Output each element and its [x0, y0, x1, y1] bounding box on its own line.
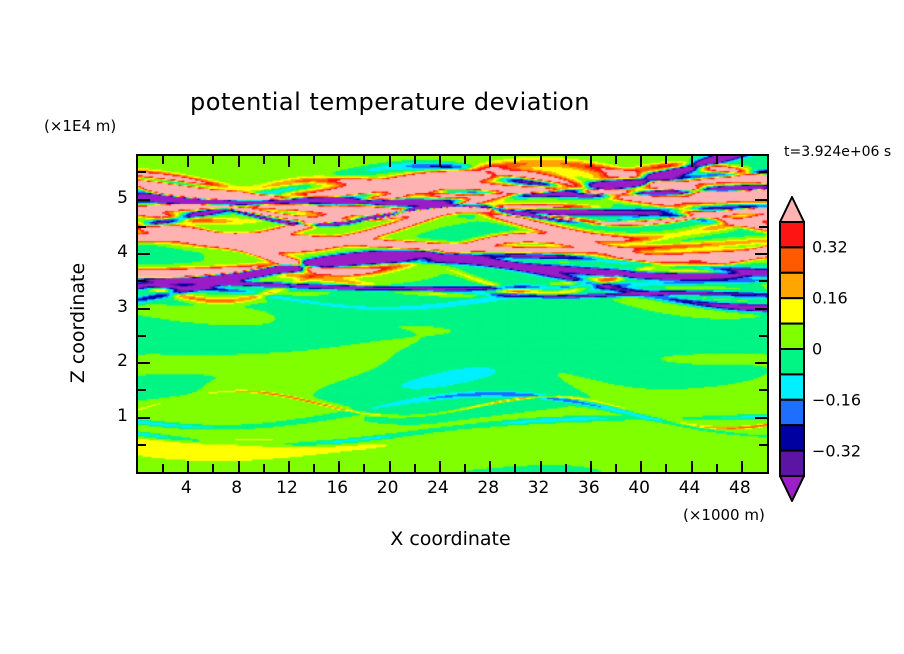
- x-tick-mark: [716, 464, 718, 472]
- x-axis-title: X coordinate: [136, 528, 765, 550]
- y-tick-mark: [138, 226, 146, 228]
- colorbar-tick-label: 0.32: [812, 238, 848, 257]
- z-axis-unit-label: (×1E4 m): [44, 117, 116, 135]
- x-tick-label: 24: [427, 478, 449, 498]
- y-tick-mark: [755, 199, 767, 201]
- x-tick-mark: [640, 461, 642, 472]
- x-tick-mark: [565, 464, 567, 472]
- x-tick-mark: [741, 461, 743, 472]
- x-tick-label: 28: [477, 478, 499, 498]
- y-tick-mark: [759, 335, 767, 337]
- x-tick-mark: [414, 156, 416, 164]
- y-tick-label: 1: [110, 406, 128, 426]
- x-tick-mark: [338, 156, 340, 167]
- y-tick-mark: [759, 226, 767, 228]
- x-tick-mark: [313, 156, 315, 164]
- x-tick-mark: [590, 156, 592, 167]
- y-tick-mark: [138, 335, 146, 337]
- y-tick-mark: [759, 389, 767, 391]
- x-tick-mark: [640, 156, 642, 167]
- x-tick-mark: [565, 156, 567, 164]
- x-tick-mark: [665, 156, 667, 164]
- x-tick-mark: [439, 461, 441, 472]
- x-tick-mark: [514, 464, 516, 472]
- page-title: potential temperature deviation: [0, 88, 780, 116]
- x-tick-mark: [716, 156, 718, 164]
- y-tick-mark: [759, 444, 767, 446]
- x-tick-label: 40: [628, 478, 650, 498]
- x-tick-mark: [741, 156, 743, 167]
- x-tick-mark: [464, 156, 466, 164]
- contour-field: [138, 156, 767, 472]
- x-tick-mark: [212, 464, 214, 472]
- x-tick-mark: [389, 156, 391, 167]
- x-tick-label: 48: [729, 478, 751, 498]
- x-tick-label: 4: [181, 478, 192, 498]
- x-tick-mark: [363, 156, 365, 164]
- x-tick-mark: [691, 461, 693, 472]
- x-tick-mark: [615, 464, 617, 472]
- x-tick-mark: [439, 156, 441, 167]
- y-tick-mark: [138, 280, 146, 282]
- colorbar-tick-label: 0: [812, 340, 822, 359]
- y-tick-mark: [138, 253, 150, 255]
- y-tick-mark: [755, 253, 767, 255]
- y-tick-label: 3: [110, 297, 128, 317]
- y-tick-mark: [755, 362, 767, 364]
- x-tick-mark: [590, 461, 592, 472]
- x-tick-mark: [363, 464, 365, 472]
- colorbar[interactable]: [779, 196, 805, 502]
- x-tick-label: 12: [276, 478, 298, 498]
- contour-plot-area[interactable]: [136, 154, 769, 474]
- colorbar-tick-label: −0.32: [812, 441, 861, 460]
- x-tick-mark: [238, 156, 240, 167]
- x-tick-mark: [187, 156, 189, 167]
- x-tick-mark: [263, 464, 265, 472]
- x-tick-label: 32: [528, 478, 550, 498]
- x-tick-mark: [665, 464, 667, 472]
- y-tick-mark: [138, 171, 146, 173]
- x-tick-label: 8: [231, 478, 242, 498]
- y-axis-title: Z coordinate: [67, 223, 89, 423]
- x-tick-mark: [540, 156, 542, 167]
- x-tick-mark: [489, 461, 491, 472]
- colorbar-tick-label: −0.16: [812, 390, 861, 409]
- x-tick-mark: [212, 156, 214, 164]
- y-tick-mark: [138, 308, 150, 310]
- time-annotation: t=3.924e+06 s: [784, 144, 891, 160]
- colorbar-tick-label: 0.16: [812, 289, 848, 308]
- x-tick-label: 16: [326, 478, 348, 498]
- x-tick-mark: [263, 156, 265, 164]
- x-tick-mark: [338, 461, 340, 472]
- x-tick-mark: [288, 156, 290, 167]
- x-tick-mark: [464, 464, 466, 472]
- colorbar-swatches: [779, 196, 805, 502]
- x-tick-mark: [615, 156, 617, 164]
- x-tick-label: 44: [679, 478, 701, 498]
- x-tick-label: 20: [377, 478, 399, 498]
- x-tick-mark: [389, 461, 391, 472]
- y-tick-mark: [755, 417, 767, 419]
- x-tick-mark: [414, 464, 416, 472]
- y-tick-mark: [138, 417, 150, 419]
- y-tick-mark: [138, 444, 146, 446]
- x-tick-mark: [162, 464, 164, 472]
- y-tick-mark: [755, 308, 767, 310]
- figure-canvas: potential temperature deviation (×1E4 m)…: [0, 0, 904, 654]
- x-tick-mark: [162, 156, 164, 164]
- x-tick-mark: [691, 156, 693, 167]
- x-axis-unit-label: (×1000 m): [683, 506, 765, 524]
- y-tick-mark: [759, 280, 767, 282]
- y-tick-label: 5: [110, 188, 128, 208]
- y-tick-mark: [138, 199, 150, 201]
- y-tick-label: 2: [110, 351, 128, 371]
- x-tick-mark: [187, 461, 189, 472]
- y-tick-label: 4: [110, 242, 128, 262]
- x-tick-mark: [238, 461, 240, 472]
- y-tick-mark: [759, 171, 767, 173]
- x-tick-label: 36: [578, 478, 600, 498]
- x-tick-mark: [540, 461, 542, 472]
- y-tick-mark: [138, 362, 150, 364]
- x-tick-mark: [514, 156, 516, 164]
- x-tick-mark: [313, 464, 315, 472]
- x-tick-mark: [288, 461, 290, 472]
- x-tick-mark: [489, 156, 491, 167]
- y-tick-mark: [138, 389, 146, 391]
